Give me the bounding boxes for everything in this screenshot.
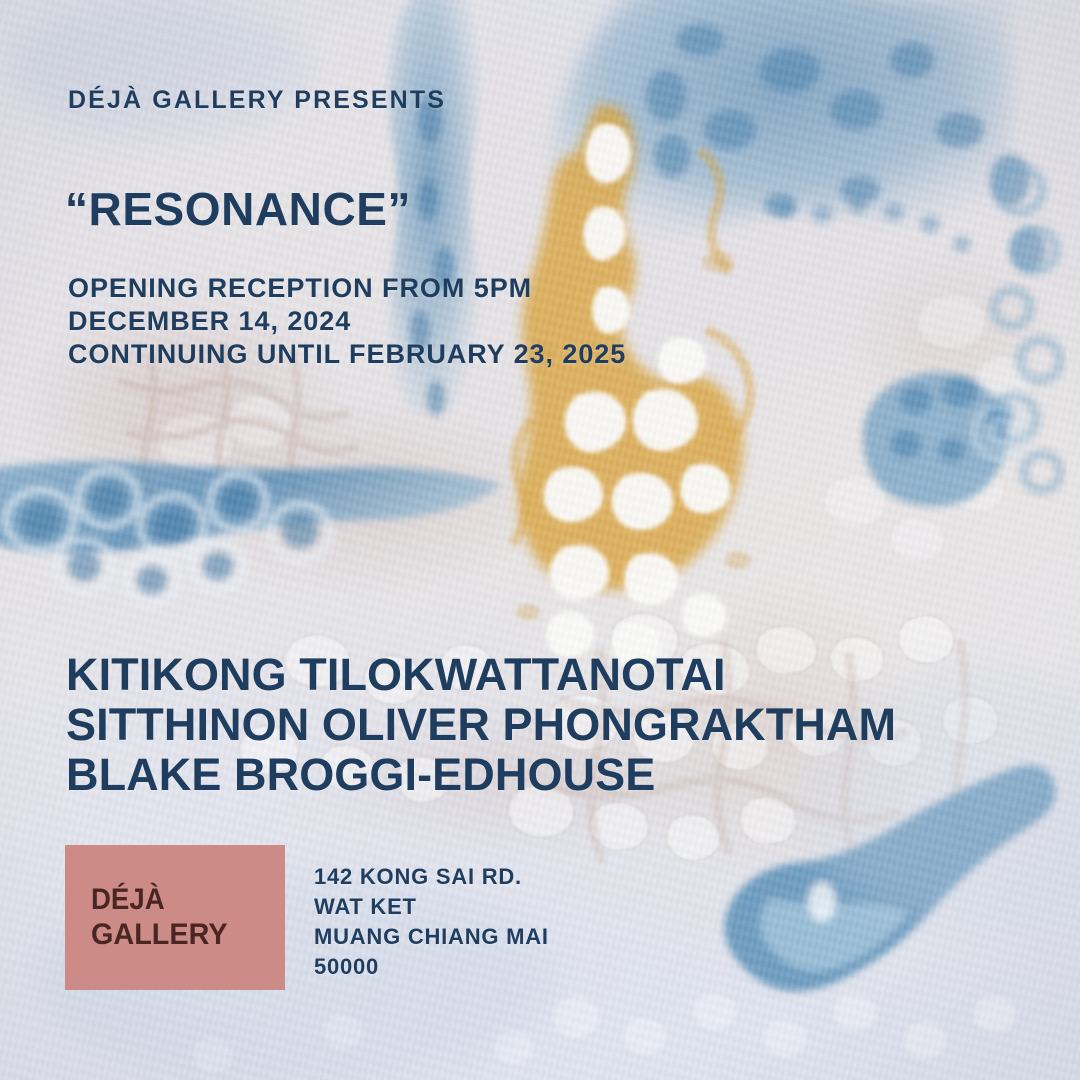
- artist-name-1: KITIKONG TILOKWATTANOTAI: [66, 650, 896, 700]
- logo-line-gallery: GALLERY: [91, 917, 277, 953]
- date-line-1: OPENING RECEPTION FROM 5PM: [68, 272, 626, 305]
- logo-line-deja: DÉJÀ: [91, 883, 269, 917]
- address-line-1: 142 KONG SAI RD.: [314, 862, 549, 892]
- date-block: OPENING RECEPTION FROM 5PM DECEMBER 14, …: [68, 272, 626, 371]
- artist-list: KITIKONG TILOKWATTANOTAI SITTHINON OLIVE…: [66, 650, 896, 800]
- gallery-logo: DÉJÀ GALLERY: [65, 845, 285, 990]
- gallery-address: 142 KONG SAI RD. WAT KET MUANG CHIANG MA…: [314, 862, 549, 982]
- artist-name-3: BLAKE BROGGI-EDHOUSE: [66, 750, 896, 800]
- poster-content: DÉJÀ GALLERY PRESENTS “RESONANCE” OPENIN…: [0, 0, 1080, 1080]
- exhibition-title: “RESONANCE”: [65, 182, 411, 236]
- address-line-3: MUANG CHIANG MAI: [314, 922, 549, 952]
- presents-line: DÉJÀ GALLERY PRESENTS: [68, 86, 446, 115]
- date-line-2: DECEMBER 14, 2024: [68, 305, 626, 338]
- artist-name-2: SITTHINON OLIVER PHONGRAKTHAM: [66, 700, 896, 750]
- address-line-2: WAT KET: [314, 892, 549, 922]
- exhibition-poster: DÉJÀ GALLERY PRESENTS “RESONANCE” OPENIN…: [0, 0, 1080, 1080]
- date-line-3: CONTINUING UNTIL FEBRUARY 23, 2025: [68, 338, 626, 371]
- address-line-4: 50000: [314, 952, 549, 982]
